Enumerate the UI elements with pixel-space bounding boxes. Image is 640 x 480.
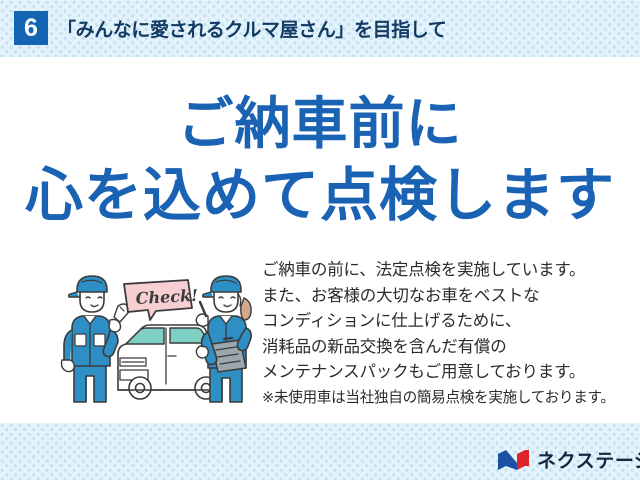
- body-copy-line: また、お客様の大切なお車をベストな: [262, 284, 624, 310]
- brand-logo: ネクステージ: [497, 446, 640, 473]
- body-copy-line: ご納車の前に、法定点検を実施しています。: [262, 258, 624, 284]
- body-copy-line: 消耗品の新品交換を含んだ有償の: [262, 335, 624, 361]
- section-number-badge: 6: [14, 11, 48, 45]
- headline-line-2: 心を込めて点検します: [0, 160, 640, 232]
- advertisement-banner: 6 「みんなに愛されるクルマ屋さん」を目指して ご納車前に 心を込めて点検します…: [0, 0, 640, 480]
- headline: ご納車前に 心を込めて点検します: [0, 88, 640, 232]
- body-copy-line: コンディションに仕上げるために、: [262, 309, 624, 335]
- check-bubble-label: Check!: [135, 286, 198, 308]
- header-title: 「みんなに愛されるクルマ屋さん」を目指して: [57, 15, 446, 42]
- header: 6 「みんなに愛されるクルマ屋さん」を目指して: [14, 11, 446, 45]
- body-copy: ご納車の前に、法定点検を実施しています。 また、お客様の大切なお車をベストな コ…: [262, 258, 624, 412]
- nextage-n-mark-icon: [497, 449, 530, 471]
- body-copy-line: メンテナンスパックもご用意しております。: [262, 360, 624, 386]
- body-copy-note: ※未使用車は当社独自の簡易点検を実施しております。: [262, 386, 624, 412]
- mechanics-illustration: Check!: [60, 272, 256, 408]
- brand-name: ネクステージ: [537, 446, 640, 473]
- headline-line-1: ご納車前に: [0, 88, 640, 160]
